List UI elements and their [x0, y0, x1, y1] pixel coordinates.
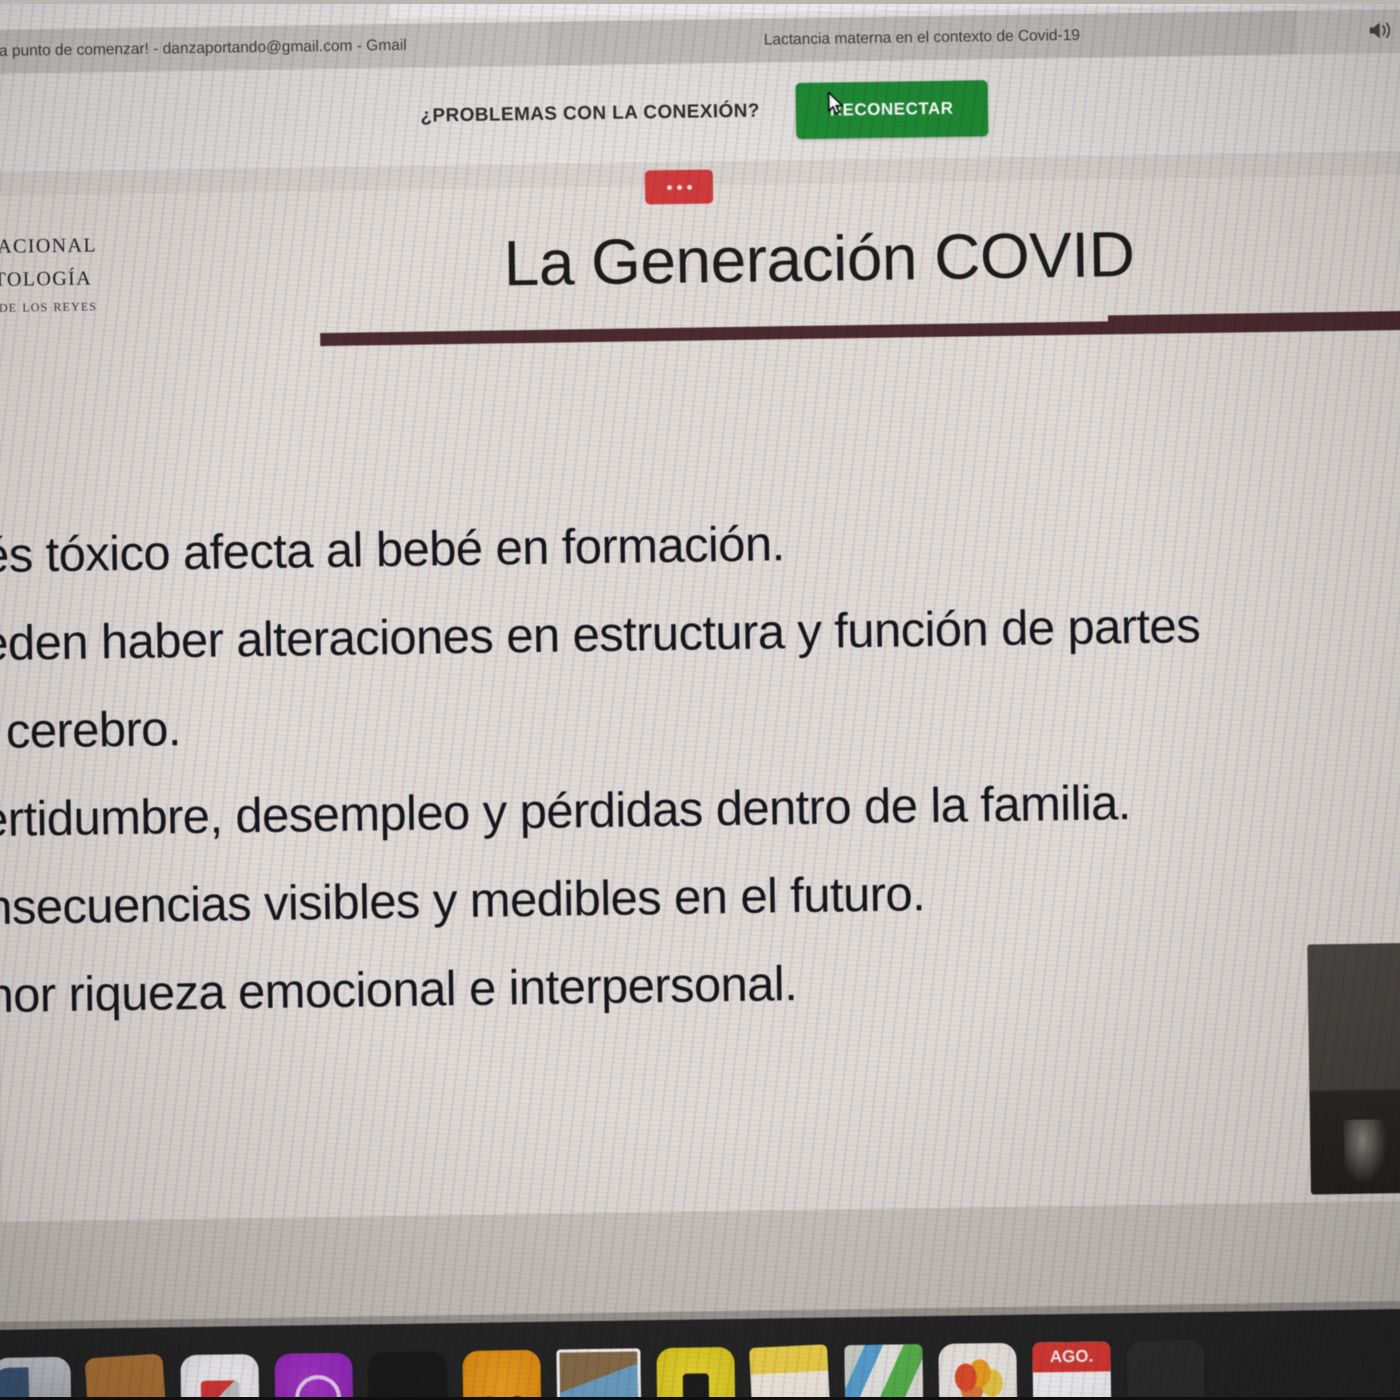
reconnect-button[interactable]: RECONECTAR	[795, 80, 987, 139]
ellipsis-dot	[666, 185, 671, 190]
maps-icon[interactable]	[844, 1344, 923, 1400]
photo-top-edge	[0, 0, 1400, 4]
slide-title: La Generación COVID	[319, 214, 1320, 303]
brown-app-icon[interactable]	[84, 1353, 167, 1400]
ellipsis-dot	[686, 184, 691, 189]
notes-icon[interactable]	[749, 1344, 831, 1400]
logo-line-2: E PERINATOLOGÍA	[0, 257, 273, 296]
ellipsis-dot	[676, 184, 681, 189]
tab-webinar-label: Lactancia materna en el contexto de Covi…	[764, 27, 1080, 50]
screenshot-root: event.webinarjam.com a punto de comenzar…	[0, 0, 1400, 1400]
tab-gmail-label: a punto de comenzar! - danzaportando@gma…	[0, 37, 407, 61]
screen-surface: event.webinarjam.com a punto de comenzar…	[0, 0, 1400, 1400]
finder-icon[interactable]	[0, 1357, 72, 1400]
presenter-webcam-panel[interactable]	[1307, 943, 1400, 1195]
podcasts-icon[interactable]	[274, 1353, 353, 1400]
bullet-item: enor riqueza emocional e interpersonal.	[0, 949, 1400, 1023]
bullet-item: trés tóxico afecta al bebé en formación.	[0, 510, 1400, 584]
inper-logo: TITUTO NACIONAL E PERINATOLOGÍA DRO ESPI…	[0, 224, 274, 318]
browser-chrome: event.webinarjam.com a punto de comenzar…	[0, 0, 1400, 196]
slide-bullet-list: trés tóxico afecta al bebé en formación.…	[0, 510, 1400, 1060]
bullet-item: certidumbre, desempleo y pérdidas dentro…	[0, 773, 1400, 847]
calendar-icon[interactable]	[1032, 1341, 1111, 1400]
yellow-disc-icon[interactable]	[656, 1347, 735, 1400]
mouse-pointer-icon	[828, 91, 844, 115]
firefox-icon[interactable]	[462, 1350, 541, 1400]
webinar-more-options-button[interactable]	[645, 170, 713, 205]
title-underline-step	[1108, 311, 1400, 335]
safari-icon[interactable]	[180, 1354, 259, 1400]
bullet-item: ueden haber alteraciones en estructura y…	[0, 598, 1400, 672]
connection-problem-label: ¿PROBLEMAS CON LA CONEXIÓN?	[420, 101, 760, 128]
edge-app-icon[interactable]	[1126, 1340, 1205, 1400]
logo-line-3: DRO ESPINOSA DE LOS REYES	[0, 293, 274, 318]
title-underline-rule	[320, 321, 1110, 346]
dark-app-icon[interactable]	[368, 1351, 447, 1400]
speaker-icon[interactable]	[1367, 19, 1393, 41]
bullet-item: onsecuencias visibles y medibles en el f…	[0, 861, 1400, 935]
photo-app-icon[interactable]	[556, 1348, 641, 1400]
bullet-item: el cerebro.	[0, 685, 1400, 759]
connection-banner: ¿PROBLEMAS CON LA CONEXIÓN? RECONECTAR	[0, 53, 1400, 172]
photos-icon[interactable]	[938, 1343, 1017, 1400]
presentation-slide: TITUTO NACIONAL E PERINATOLOGÍA DRO ESPI…	[0, 175, 1400, 1228]
